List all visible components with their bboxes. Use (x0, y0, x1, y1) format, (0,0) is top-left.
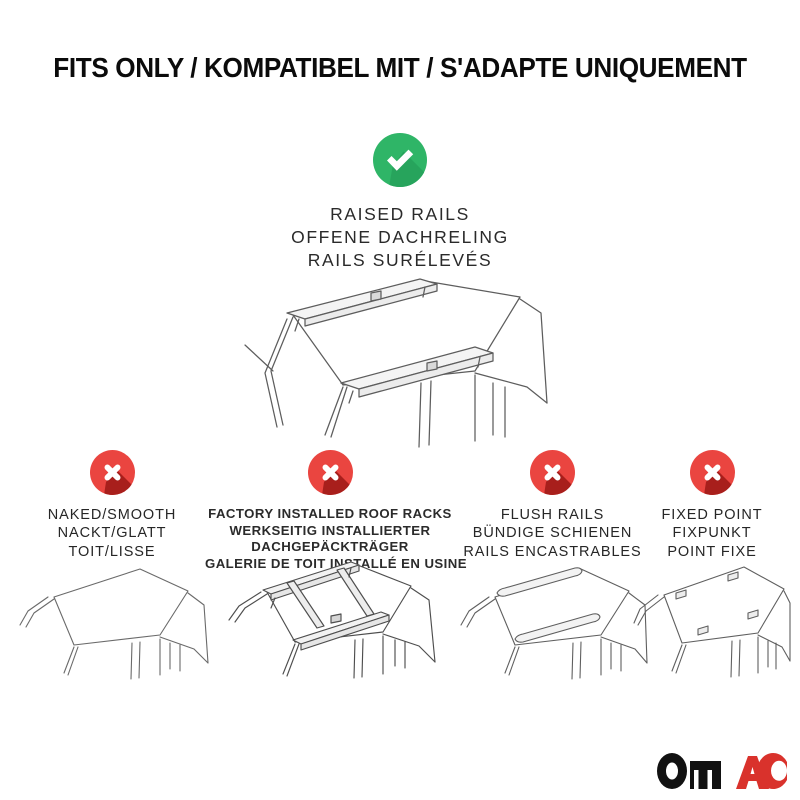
item-label-en: FIXED POINT (632, 506, 792, 524)
x-mark-glyph (530, 450, 575, 495)
item-label-de: NACKT/GLATT (12, 524, 212, 542)
car-roof-with-flush-rails-illustration (455, 553, 650, 683)
compatible-label-en: RAISED RAILS (0, 203, 800, 226)
incompatible-item-flush-rails: FLUSH RAILS BÜNDIGE SCHIENEN RAILS ENCAS… (455, 450, 650, 561)
x-mark-glyph (690, 450, 735, 495)
item-label-de-1: WERKSEITIG INSTALLIERTER (205, 523, 455, 540)
item-label-de: BÜNDIGE SCHIENEN (455, 524, 650, 542)
item-label-en: FACTORY INSTALLED ROOF RACKS (205, 506, 455, 523)
x-circle-icon (90, 450, 135, 495)
x-circle-icon (690, 450, 735, 495)
item-label-en: NAKED/SMOOTH (12, 506, 212, 524)
x-circle-icon (308, 450, 353, 495)
car-roof-naked-smooth-illustration (12, 553, 212, 683)
logo-letter-m (690, 761, 721, 789)
check-mark-glyph (373, 133, 427, 187)
item-label-de: FIXPUNKT (632, 524, 792, 542)
x-mark-glyph (308, 450, 353, 495)
incompatible-item-fixed-point: FIXED POINT FIXPUNKT POINT FIXE (632, 450, 792, 561)
omac-logo: OMAC (656, 750, 788, 792)
x-circle-icon (530, 450, 575, 495)
car-roof-with-factory-crossbars-illustration (205, 550, 455, 685)
item-label-en: FLUSH RAILS (455, 506, 650, 524)
compatible-label-fr: RAILS SURÉLEVÉS (0, 249, 800, 272)
check-circle-icon (373, 133, 427, 187)
page-title: FITS ONLY / KOMPATIBEL MIT / S'ADAPTE UN… (20, 52, 780, 84)
compatible-label-de: OFFENE DACHRELING (0, 226, 800, 249)
incompatible-item-factory-roof-racks: FACTORY INSTALLED ROOF RACKS WERKSEITIG … (205, 450, 455, 573)
incompatible-item-naked-smooth: NAKED/SMOOTH NACKT/GLATT TOIT/LISSE (12, 450, 212, 561)
car-roof-with-raised-rails-illustration (175, 275, 625, 455)
compatible-section: RAISED RAILS OFFENE DACHRELING RAILS SUR… (0, 133, 800, 271)
logo-letter-o (657, 753, 687, 789)
car-roof-with-fixed-points-illustration (632, 553, 792, 683)
x-mark-glyph (90, 450, 135, 495)
incompatible-section: NAKED/SMOOTH NACKT/GLATT TOIT/LISSE (0, 450, 800, 800)
compatible-labels: RAISED RAILS OFFENE DACHRELING RAILS SUR… (0, 203, 800, 271)
